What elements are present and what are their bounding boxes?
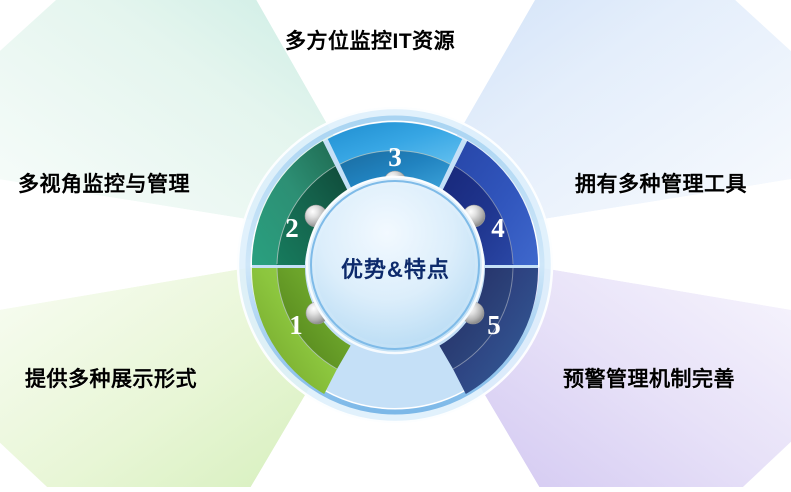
center-hub[interactable]	[306, 176, 484, 354]
diagram-canvas: 3 2 1 4	[0, 0, 791, 487]
label-left-top: 多视角监控与管理	[18, 168, 190, 198]
label-right-top: 拥有多种管理工具	[575, 168, 747, 198]
segment-3-number: 3	[388, 142, 402, 172]
label-right-bottom: 预警管理机制完善	[563, 363, 735, 393]
segment-5-number: 5	[487, 310, 501, 340]
segment-4-number: 4	[491, 213, 505, 243]
wheel-diagram-svg: 3 2 1 4	[0, 0, 791, 487]
label-left-bottom: 提供多种展示形式	[25, 363, 197, 393]
segment-1-number: 1	[289, 310, 303, 340]
label-top: 多方位监控IT资源	[285, 25, 455, 55]
segment-2-number: 2	[285, 213, 299, 243]
